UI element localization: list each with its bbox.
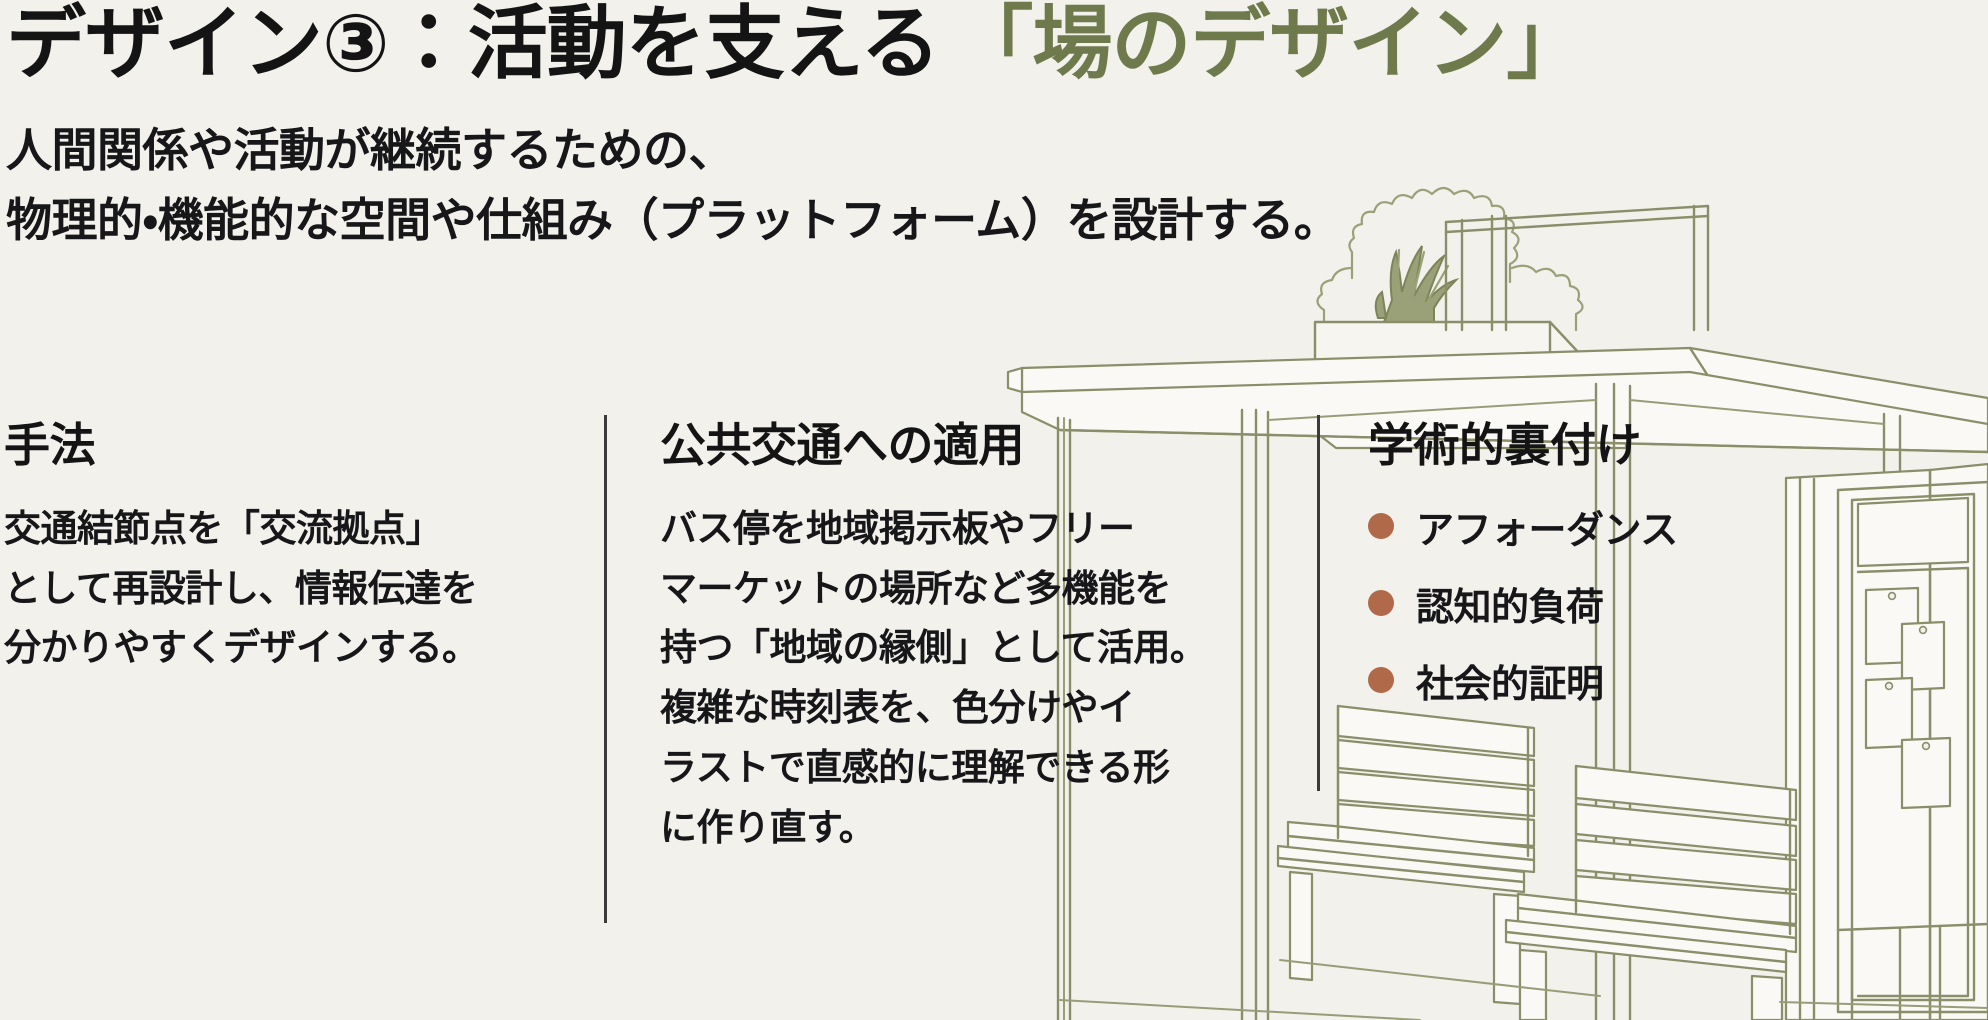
roof-frame-posts	[1446, 206, 1708, 330]
bullet-dot-icon	[1368, 513, 1394, 539]
column-application-body: バス停を地域掲示板やフリー マーケットの場所など多機能を 持つ「地域の縁側」とし…	[660, 499, 1270, 859]
subtitle: 人間関係や活動が継続するための、 物理的・機能的な空間や仕組み（プラットフォーム…	[6, 116, 1339, 256]
bench-right	[1506, 766, 1796, 1020]
column-method-heading: 手法	[4, 420, 564, 471]
list-item: 認知的負荷	[1368, 576, 1888, 631]
subtitle-line-1: 人間関係や活動が継続するための、	[6, 116, 1339, 186]
column-method-line-2: として再設計し、情報伝達を	[4, 559, 564, 619]
subtitle-line-2: 物理的・機能的な空間や仕組み（プラットフォーム）を設計する。	[6, 186, 1339, 256]
evidence-bullet-label-2: 認知的負荷	[1416, 576, 1604, 631]
column-application: 公共交通への適用 バス停を地域掲示板やフリー マーケットの場所など多機能を 持つ…	[660, 420, 1270, 858]
column-evidence: 学術的裏付け アフォーダンス 認知的負荷 社会的証明	[1368, 420, 1888, 730]
column-method-line-3: 分かりやすくデザインする。	[4, 618, 564, 678]
canopy-roof	[1008, 348, 1988, 430]
column-evidence-heading: 学術的裏付け	[1368, 420, 1888, 471]
bullet-dot-icon	[1368, 590, 1394, 616]
evidence-bullet-list: アフォーダンス 認知的負荷 社会的証明	[1368, 499, 1888, 708]
column-application-line-4: 複雑な時刻表を、色分けやイ	[660, 678, 1270, 738]
column-application-line-3: 持つ「地域の縁側」として活用。	[660, 618, 1270, 678]
column-method-line-1: 交通結節点を「交流拠点」	[4, 499, 564, 559]
column-application-heading: 公共交通への適用	[660, 420, 1270, 471]
column-divider-1	[604, 415, 607, 923]
list-item: 社会的証明	[1368, 653, 1888, 708]
title-main-text: デザイン③：活動を支える	[6, 0, 939, 88]
evidence-bullet-label-1: アフォーダンス	[1416, 499, 1678, 554]
column-method: 手法 交通結節点を「交流拠点」 として再設計し、情報伝達を 分かりやすくデザイン…	[4, 420, 564, 678]
slide-root: .ln { fill:none; stroke:#8a8f6a; stroke-…	[0, 0, 1988, 1020]
column-application-line-5: ラストで直感的に理解できる形	[660, 738, 1270, 798]
evidence-bullet-label-3: 社会的証明	[1416, 653, 1604, 708]
column-divider-2	[1317, 415, 1320, 791]
list-item: アフォーダンス	[1368, 499, 1888, 554]
column-application-line-1: バス停を地域掲示板やフリー	[660, 499, 1270, 559]
column-application-line-2: マーケットの場所など多機能を	[660, 559, 1270, 619]
page-title: デザイン③：活動を支える「場のデザイン」	[6, 0, 1585, 94]
column-application-line-6: に作り直す。	[660, 798, 1270, 858]
title-accent-text: 「場のデザイン」	[953, 0, 1585, 88]
roof-planting	[1317, 188, 1582, 330]
column-method-body: 交通結節点を「交流拠点」 として再設計し、情報伝達を 分かりやすくデザインする。	[4, 499, 564, 679]
bullet-dot-icon	[1368, 667, 1394, 693]
ground-lines	[1060, 960, 1988, 1020]
